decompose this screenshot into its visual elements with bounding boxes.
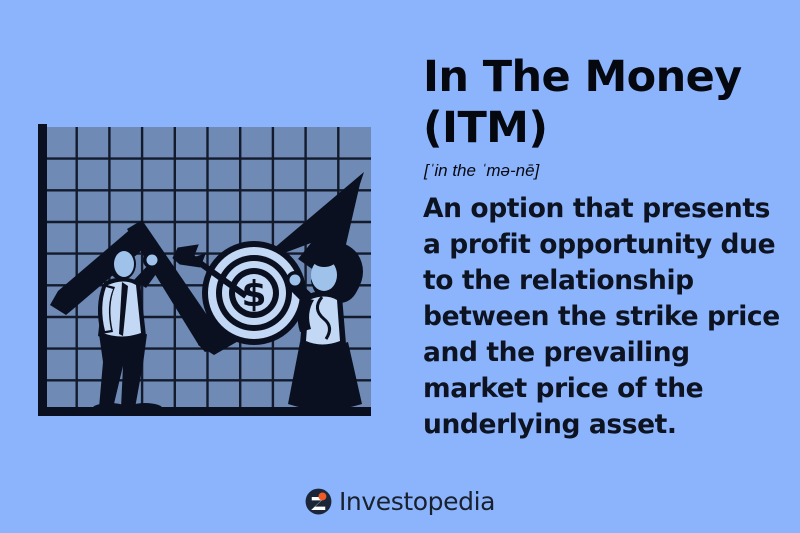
page-title: In The Money (ITM) xyxy=(423,52,791,154)
investopedia-logo-icon xyxy=(305,488,332,515)
y-axis xyxy=(38,124,47,416)
brand-name: Investopedia xyxy=(339,488,495,515)
page-root: $ xyxy=(0,0,800,533)
pronunciation-text: [ˈin the ˈmə-nē] xyxy=(424,161,791,181)
dollar-target: $ xyxy=(202,241,306,345)
x-axis xyxy=(38,407,371,416)
definition-text: An option that presents a profit opportu… xyxy=(423,191,791,443)
term-text-column: In The Money (ITM) [ˈin the ˈmə-nē] An o… xyxy=(423,52,791,443)
itm-stock-chart-illustration: $ xyxy=(30,112,385,424)
brand-logo: Investopedia xyxy=(0,488,800,515)
illustration-svg: $ xyxy=(30,112,385,424)
